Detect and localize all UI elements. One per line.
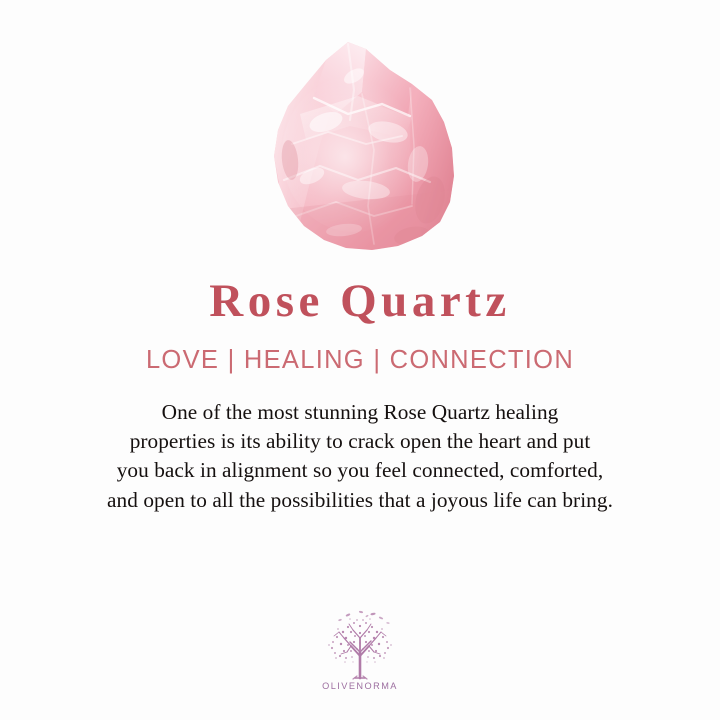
tree-of-life-icon (317, 608, 403, 680)
description-line: One of the most stunning Rose Quartz hea… (26, 398, 694, 427)
brand-logo: OLIVENORMA (0, 608, 720, 691)
rose-quartz-info-card: Rose Quartz LOVE | HEALING | CONNECTION … (0, 0, 720, 720)
hero-image-area (0, 0, 720, 262)
subtitle-block: LOVE | HEALING | CONNECTION (146, 340, 574, 382)
keywords-subtitle: LOVE | HEALING | CONNECTION (146, 348, 574, 374)
description-line: and open to all the possibilities that a… (26, 486, 694, 515)
rose-quartz-crystal-image (262, 40, 468, 258)
description-line: properties is its ability to crack open … (26, 427, 694, 456)
page-title: Rose Quartz (209, 278, 510, 325)
crystal-body (262, 40, 468, 258)
brand-wordmark: OLIVENORMA (322, 681, 398, 691)
tree-drifting-leaves (338, 610, 390, 624)
title-block: Rose Quartz (209, 262, 510, 340)
description-line: you back in alignment so you feel connec… (26, 456, 694, 485)
description-paragraph: One of the most stunning Rose Quartz hea… (26, 398, 694, 515)
